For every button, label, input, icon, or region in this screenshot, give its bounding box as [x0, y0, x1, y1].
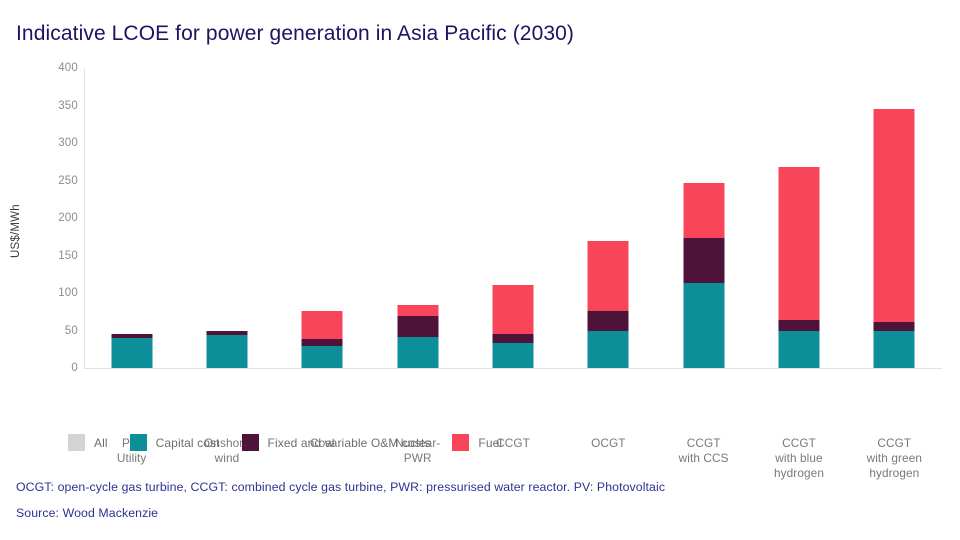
x-axis-category-line: wind: [179, 451, 274, 466]
bar-segment[interactable]: [492, 343, 533, 369]
bar-segment[interactable]: [397, 316, 438, 338]
x-axis-category-line: hydrogen: [751, 466, 846, 481]
footnote-abbreviations: OCGT: open-cycle gas turbine, CCGT: comb…: [16, 474, 665, 500]
x-axis-category-line: hydrogen: [847, 466, 942, 481]
legend-item-label: All: [94, 436, 108, 450]
page-title: Indicative LCOE for power generation in …: [16, 22, 574, 46]
y-axis-tick-label: 350: [34, 100, 78, 112]
bar-group[interactable]: [465, 68, 560, 368]
bar-stack[interactable]: [588, 241, 629, 369]
bar-group[interactable]: [751, 68, 846, 368]
bar-segment[interactable]: [111, 338, 152, 368]
x-axis-category-line: with blue: [751, 451, 846, 466]
x-axis-category-line: with CCS: [656, 451, 751, 466]
x-axis-category-label: CCGTwith bluehydrogen: [751, 436, 846, 481]
plot-area: US$/MWh 050100150200250300350400 PV-Util…: [0, 62, 960, 382]
legend-item-label: Fixed and variable O&M costs: [268, 436, 431, 450]
x-axis-category-line: with green: [847, 451, 942, 466]
y-axis-tick-label: 200: [34, 212, 78, 224]
bar-segment[interactable]: [683, 183, 724, 239]
footnotes: OCGT: open-cycle gas turbine, CCGT: comb…: [16, 474, 665, 526]
bar-stack[interactable]: [302, 311, 343, 368]
bar-segment[interactable]: [492, 334, 533, 342]
bar-segment[interactable]: [874, 331, 915, 369]
legend-item[interactable]: Fixed and variable O&M costs: [242, 434, 431, 451]
x-axis-category-line: CCGT: [656, 436, 751, 451]
legend-item[interactable]: Capital cost: [130, 434, 220, 451]
bar-stack[interactable]: [778, 167, 819, 368]
bar-segment[interactable]: [778, 167, 819, 320]
bar-segment[interactable]: [874, 322, 915, 330]
x-axis-line: [84, 368, 942, 369]
legend-swatch-icon: [452, 434, 469, 451]
bar-group[interactable]: [561, 68, 656, 368]
bar-segment[interactable]: [778, 320, 819, 331]
legend-item-label: Capital cost: [156, 436, 220, 450]
bar-segment[interactable]: [302, 311, 343, 339]
x-axis-category-line: CCGT: [751, 436, 846, 451]
legend-item[interactable]: All: [68, 434, 108, 451]
y-axis-ticks: 050100150200250300350400: [34, 62, 78, 368]
bar-stack[interactable]: [874, 109, 915, 368]
bar-segment[interactable]: [588, 331, 629, 369]
bar-segment[interactable]: [397, 305, 438, 316]
x-axis-category-line: OCGT: [561, 436, 656, 451]
bar-segment[interactable]: [588, 311, 629, 331]
x-axis-category-line: PWR: [370, 451, 465, 466]
bar-group[interactable]: [179, 68, 274, 368]
bar-stack[interactable]: [111, 334, 152, 369]
bar-segment[interactable]: [206, 335, 247, 368]
bar-stack[interactable]: [206, 331, 247, 369]
bar-group[interactable]: [847, 68, 942, 368]
bar-group[interactable]: [84, 68, 179, 368]
y-axis-tick-label: 400: [34, 62, 78, 74]
legend-swatch-icon: [242, 434, 259, 451]
x-axis-category-line: Utility: [84, 451, 179, 466]
bar-group[interactable]: [275, 68, 370, 368]
y-axis-tick-label: 300: [34, 137, 78, 149]
chart-legend: AllCapital costFixed and variable O&M co…: [68, 434, 524, 451]
bar-stack[interactable]: [492, 285, 533, 368]
bar-segment[interactable]: [302, 339, 343, 347]
bar-segment[interactable]: [683, 238, 724, 283]
bar-segment[interactable]: [778, 331, 819, 369]
y-axis-tick-label: 150: [34, 250, 78, 262]
y-axis-title: US$/MWh: [10, 138, 22, 258]
footnote-source: Source: Wood Mackenzie: [16, 500, 665, 526]
bar-segment[interactable]: [397, 337, 438, 368]
legend-swatch-icon: [68, 434, 85, 451]
bar-group[interactable]: [656, 68, 751, 368]
x-axis-category-label: OCGT: [561, 436, 656, 451]
bar-segment[interactable]: [683, 283, 724, 368]
y-axis-tick-label: 100: [34, 287, 78, 299]
bar-series-container: [84, 68, 942, 368]
legend-swatch-icon: [130, 434, 147, 451]
x-axis-category-label: CCGTwith CCS: [656, 436, 751, 466]
y-axis-tick-label: 250: [34, 175, 78, 187]
bar-group[interactable]: [370, 68, 465, 368]
bar-segment[interactable]: [492, 285, 533, 335]
bar-segment[interactable]: [874, 109, 915, 322]
legend-item-label: Fuel: [478, 436, 502, 450]
legend-item[interactable]: Fuel: [452, 434, 502, 451]
y-axis-tick-label: 50: [34, 325, 78, 337]
bar-segment[interactable]: [302, 346, 343, 368]
chart-page: Indicative LCOE for power generation in …: [0, 0, 960, 540]
y-axis-tick-label: 0: [34, 362, 78, 374]
bar-stack[interactable]: [683, 183, 724, 368]
bar-segment[interactable]: [588, 241, 629, 312]
x-axis-category-label: CCGTwith greenhydrogen: [847, 436, 942, 481]
x-axis-category-line: CCGT: [847, 436, 942, 451]
bar-stack[interactable]: [397, 305, 438, 368]
